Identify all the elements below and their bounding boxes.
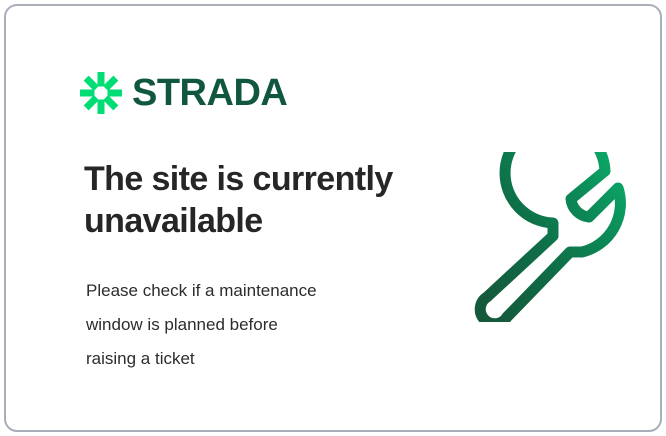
page-description: Please check if a maintenance window is …: [86, 274, 416, 376]
brand-logo: STRADA: [80, 72, 287, 114]
description-line: Please check if a maintenance: [86, 274, 416, 308]
message-card: STRADA The site is currently unavailable…: [4, 4, 662, 432]
strada-asterisk-icon: [80, 72, 122, 114]
page-title: The site is currently unavailable: [84, 158, 424, 242]
description-line: raising a ticket: [86, 342, 416, 376]
error-page: STRADA The site is currently unavailable…: [0, 0, 666, 436]
description-line: window is planned before: [86, 308, 416, 342]
brand-wordmark: STRADA: [132, 74, 287, 112]
wrench-illustration: [458, 152, 634, 322]
